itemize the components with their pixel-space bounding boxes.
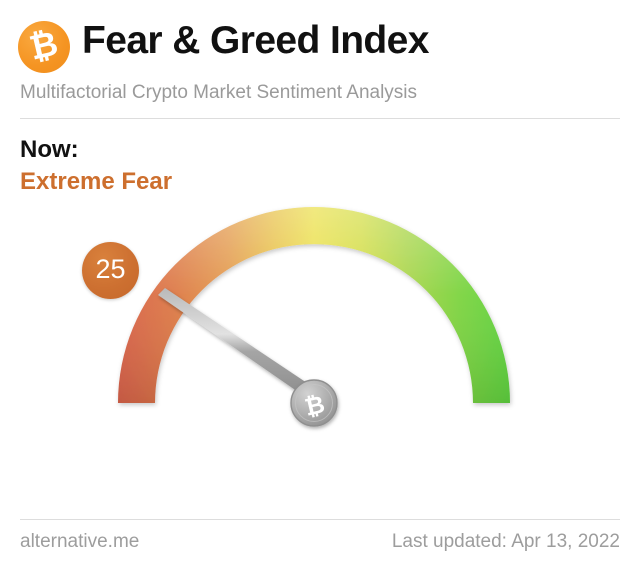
gauge-svg: ₿ (0, 190, 640, 500)
gauge: ₿ 25 (0, 190, 640, 500)
footer: alternative.me Last updated: Apr 13, 202… (20, 531, 620, 553)
bitcoin-icon-circle: ₿ (18, 21, 70, 73)
last-updated-text: Last updated: Apr 13, 2022 (392, 531, 620, 553)
header: ₿ Fear & Greed Index Multifactorial Cryp… (0, 0, 640, 120)
bitcoin-icon: ₿ (18, 21, 70, 73)
score-value: 25 (95, 256, 125, 285)
header-divider (20, 118, 620, 119)
bitcoin-glyph: ₿ (13, 16, 75, 78)
gauge-needle (158, 288, 322, 403)
source-link[interactable]: alternative.me (20, 531, 139, 553)
page-title: Fear & Greed Index (82, 19, 429, 63)
footer-divider (20, 519, 620, 520)
page-subtitle: Multifactorial Crypto Market Sentiment A… (20, 82, 417, 104)
score-badge: 25 (82, 242, 139, 299)
gauge-hub: ₿ (291, 380, 337, 426)
fear-greed-index-card: ₿ Fear & Greed Index Multifactorial Cryp… (0, 0, 640, 575)
status-label: Now: (20, 135, 172, 165)
status-block: Now: Extreme Fear (20, 135, 172, 197)
